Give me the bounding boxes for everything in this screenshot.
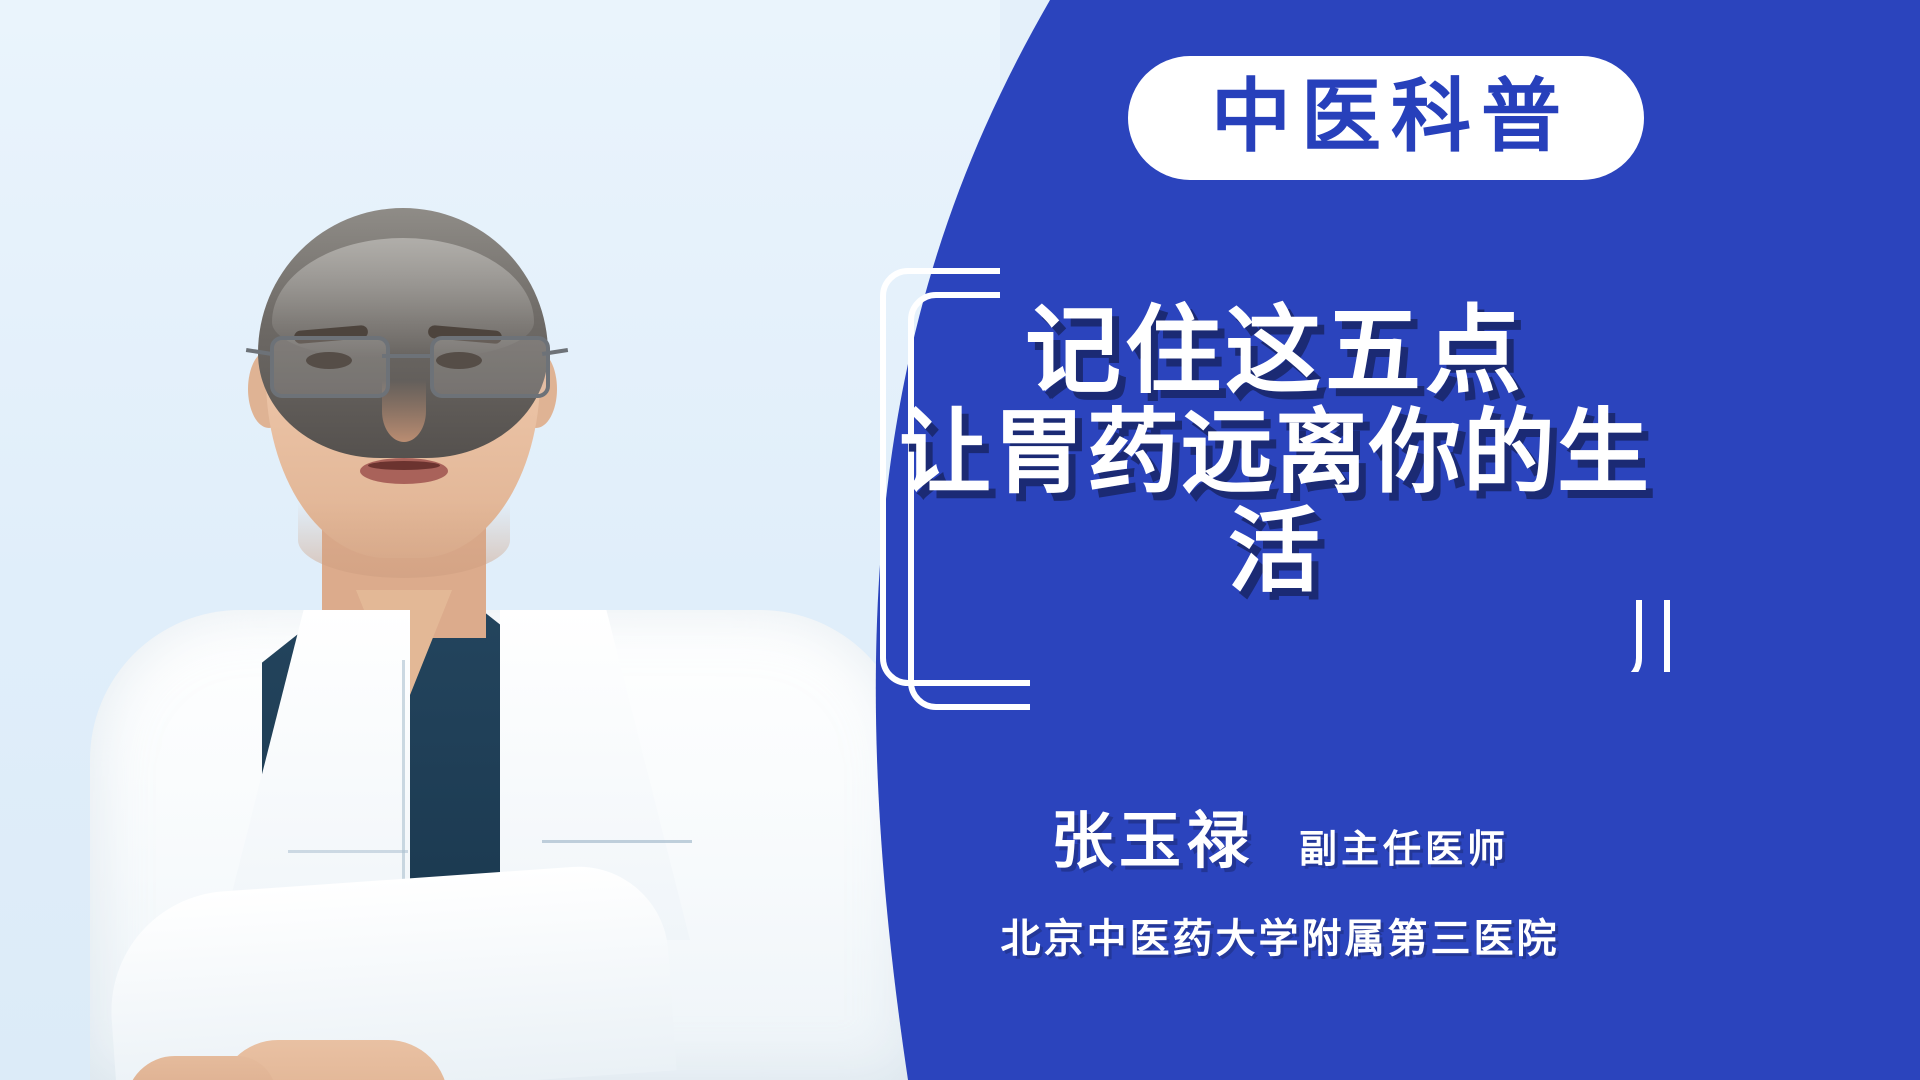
doctor-portrait	[30, 50, 930, 1080]
coat-pocket	[542, 840, 692, 859]
category-badge-label: 中医科普	[1201, 78, 1571, 158]
eyeglasses	[270, 336, 544, 392]
doctor-job-title: 副主任医师	[1299, 818, 1509, 873]
glasses-bridge	[382, 354, 430, 358]
coat-pocket-secondary	[288, 850, 408, 867]
mouth	[360, 458, 448, 484]
poster-title: 记住这五点 让胃药远离你的生活	[880, 300, 1670, 602]
doctor-photo-area	[0, 0, 1000, 1080]
title-line-2: 让胃药远离你的生活	[880, 404, 1670, 603]
hospital-name: 北京中医药大学附属第三医院	[880, 906, 1680, 964]
doctor-name: 张玉禄	[1051, 790, 1255, 880]
poster-canvas: 中医科普 记住这五点 让胃药远离你的生活 张玉禄 副主任医师 北京中医药大学附属…	[0, 0, 1920, 1080]
chin	[298, 502, 510, 578]
frame-gap-top	[1000, 258, 1700, 302]
credits-block: 张玉禄 副主任医师 北京中医药大学附属第三医院	[880, 790, 1680, 964]
credits-name-row: 张玉禄 副主任医师	[880, 790, 1680, 880]
lens-left	[270, 336, 390, 398]
lens-right	[430, 336, 550, 398]
category-badge: 中医科普	[1128, 56, 1644, 180]
title-line-1: 记住这五点	[1025, 298, 1525, 405]
frame-gap-bottom	[1030, 672, 1690, 718]
